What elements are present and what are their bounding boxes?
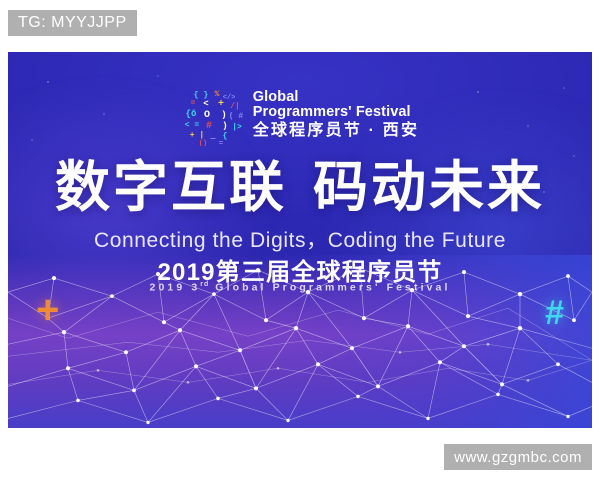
logo-english-line1: Global [253, 90, 419, 105]
code-symbols-circle-emblem-svg: { } % </> = < + /| {ô O ) ( # < = # ) |>… [181, 84, 243, 146]
watermark-bottom-right: www.gzgmbc.com [444, 444, 592, 470]
festival-logo-text: Global Programmers' Festival 全球程序员节 · 西安 [253, 90, 419, 141]
headline-part2: 码动未来 [313, 156, 545, 218]
festival-logo-lockup: { } % </> = < + /| {ô O ) ( # < = # ) |>… [8, 84, 592, 146]
svg-text:{: { [222, 132, 227, 141]
conference-poster-image: { } % </> = < + /| {ô O ) ( # < = # ) |>… [8, 52, 592, 428]
svg-text:#: # [206, 121, 212, 132]
poster-headline: 数字互联码动未来 [8, 160, 592, 215]
hash-symbol-icon: # [545, 296, 564, 330]
watermark-bottom-right-text: www.gzgmbc.com [454, 449, 582, 466]
watermark-top-left-text: TG: MYYJJPP [18, 14, 127, 32]
headline-part1: 数字互联 [55, 156, 287, 218]
event-ordinal-suffix: rd [200, 281, 209, 288]
svg-text:<: < [203, 99, 208, 109]
svg-text:|>: |> [232, 123, 242, 132]
svg-text:_: _ [209, 132, 215, 141]
svg-text:< =: < = [185, 121, 200, 130]
svg-text:(): () [199, 140, 207, 146]
svg-text:/|: /| [230, 102, 240, 111]
logo-english-line2: Programmers' Festival [253, 105, 419, 120]
logo-chinese-subtitle: 全球程序员节 · 西安 [253, 123, 419, 140]
svg-text:+ |: + | [190, 131, 204, 140]
svg-text:): ) [222, 121, 227, 131]
svg-text:{ô: {ô [185, 109, 196, 119]
svg-text:%: % [214, 90, 219, 99]
code-symbols-circle-emblem: { } % </> = < + /| {ô O ) ( # < = # ) |>… [181, 84, 243, 146]
svg-text:( #: ( # [229, 112, 243, 121]
svg-text:</>: </> [222, 94, 235, 102]
watermark-top-left: TG: MYYJJPP [8, 10, 137, 36]
svg-text:=: = [190, 99, 195, 108]
poster-english-subtitle: Connecting the Digits，Coding the Future [8, 224, 592, 254]
poster-event-title-english: 2019 3rd Global Programmers' Festival [8, 281, 592, 294]
event-year: 2019 [150, 282, 186, 294]
event-ordinal-number: 3 [191, 282, 200, 294]
svg-text:=: = [219, 140, 223, 146]
svg-text:): ) [221, 110, 226, 120]
plus-symbol-icon: + [36, 290, 59, 330]
svg-text:+: + [218, 99, 224, 110]
event-english-rest: Global Programmers' Festival [215, 282, 450, 294]
svg-text:O: O [204, 110, 210, 121]
